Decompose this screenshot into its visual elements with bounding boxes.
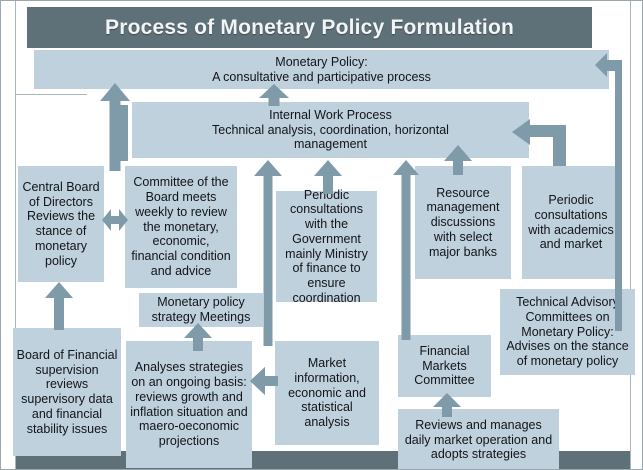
box-monetary-policy-strategy-meetings[interactable]: Monetary policy strategy Meetings bbox=[139, 293, 263, 327]
box-committee-text: Committee of the Board meets weekly to r… bbox=[128, 175, 234, 278]
arrow-head-into-monetary-policy bbox=[595, 53, 607, 77]
arrow-board-supervision-to-central-board bbox=[45, 282, 73, 330]
arrow-periodic-government-to-internal bbox=[314, 160, 342, 194]
box-technical-advisory-text: Technical Advisory Committees on Monetar… bbox=[503, 295, 632, 369]
arrow-reviews-to-financial-markets bbox=[433, 393, 461, 417]
box-internal-work-process-line2: Technical analysis, coordination, horizo… bbox=[135, 123, 526, 138]
box-reviews-manages-text: Reviews and manages daily market operati… bbox=[401, 418, 556, 462]
box-periodic-consultations-academics[interactable]: Periodic consultations with academics an… bbox=[522, 166, 620, 279]
box-analyses-strategies[interactable]: Analyses strategies on an ongoing basis:… bbox=[126, 341, 252, 468]
arrow-analyses-to-strategy-meetings bbox=[184, 323, 212, 351]
connector-committee-stub bbox=[120, 105, 128, 161]
connector-strategy-meetings-to-committee bbox=[264, 277, 272, 313]
box-market-information[interactable]: Market information, economic and statist… bbox=[275, 341, 379, 445]
box-internal-work-process-line1: Internal Work Process bbox=[135, 108, 526, 123]
page-title-text: Process of Monetary Policy Formulation bbox=[105, 16, 514, 40]
page-title: Process of Monetary Policy Formulation bbox=[27, 7, 592, 48]
diagram-canvas: Process of Monetary Policy Formulation M… bbox=[0, 0, 643, 470]
arrow-internal-to-monetary-policy bbox=[259, 84, 289, 106]
arrow-central-board-committee bbox=[102, 209, 128, 231]
connector-technical-advisory-vertical bbox=[615, 63, 622, 331]
box-financial-markets-committee-text: Financial Markets Committee bbox=[401, 344, 488, 388]
arrow-market-information-to-internal bbox=[254, 160, 282, 346]
box-board-financial-supervision-text: Board of Financial supervision reviews s… bbox=[16, 348, 118, 437]
box-periodic-government-text: Periodic consultations with the Governme… bbox=[279, 188, 374, 306]
box-resource-management-text: Resource management discussions with sel… bbox=[418, 186, 508, 260]
arrow-resource-management-to-internal bbox=[444, 145, 472, 175]
box-analyses-strategies-text: Analyses strategies on an ongoing basis:… bbox=[129, 360, 249, 449]
box-periodic-consultations-government[interactable]: Periodic consultations with the Governme… bbox=[276, 191, 377, 302]
box-reviews-and-manages[interactable]: Reviews and manages daily market operati… bbox=[398, 409, 559, 470]
box-resource-management[interactable]: Resource management discussions with sel… bbox=[415, 166, 511, 279]
box-strategy-meetings-text: Monetary policy strategy Meetings bbox=[142, 295, 260, 325]
box-financial-markets-committee[interactable]: Financial Markets Committee bbox=[398, 335, 491, 397]
arrow-periodic-academics-to-internal bbox=[512, 111, 582, 166]
box-monetary-policy-line1: Monetary Policy: bbox=[37, 55, 606, 70]
frame-line-top-inner bbox=[15, 94, 87, 95]
box-central-board-text: Central Board of Directors Reviews the s… bbox=[21, 180, 101, 269]
box-central-board-of-directors[interactable]: Central Board of Directors Reviews the s… bbox=[18, 166, 104, 282]
box-periodic-academics-text: Periodic consultations with academics an… bbox=[525, 193, 617, 252]
arrow-financial-markets-to-internal bbox=[393, 160, 419, 340]
box-board-financial-supervision[interactable]: Board of Financial supervision reviews s… bbox=[13, 328, 121, 456]
frame-line-right bbox=[630, 1, 631, 470]
arrow-into-analyses-strategies bbox=[250, 367, 278, 395]
box-committee-of-the-board[interactable]: Committee of the Board meets weekly to r… bbox=[125, 166, 237, 288]
connector-technical-advisory-horizontal bbox=[605, 60, 622, 71]
box-market-information-text: Market information, economic and statist… bbox=[278, 356, 376, 430]
box-monetary-policy-text: Monetary Policy: A consultative and part… bbox=[37, 55, 606, 85]
